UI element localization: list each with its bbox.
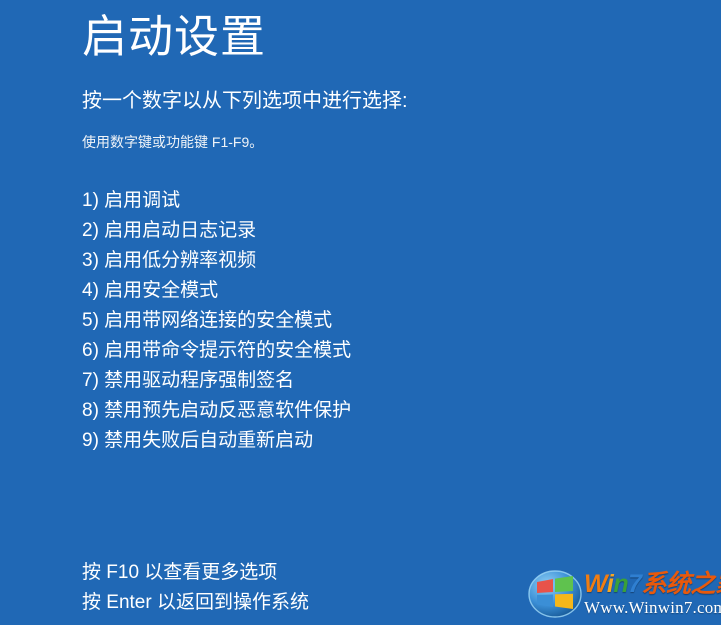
watermark-text: Win7系统之家 Www.Winwin7.com <box>584 571 721 618</box>
footer-hints: 按 F10 以查看更多选项 按 Enter 以返回到操作系统 <box>82 558 309 618</box>
site-watermark: Win7系统之家 Www.Winwin7.com <box>528 566 721 622</box>
instruction-subtitle: 按一个数字以从下列选项中进行选择: <box>82 88 408 114</box>
footer-return-os[interactable]: 按 Enter 以返回到操作系统 <box>82 588 309 618</box>
footer-more-options[interactable]: 按 F10 以查看更多选项 <box>82 558 309 588</box>
option-item-7[interactable]: 7) 禁用驱动程序强制签名 <box>82 366 351 396</box>
brand-chinese: 系统之家 <box>642 570 721 598</box>
windows-orb-icon <box>528 570 582 618</box>
option-item-6[interactable]: 6) 启用带命令提示符的安全模式 <box>82 336 351 366</box>
brand-digit-7: 7 <box>628 570 641 598</box>
brand-letter-w: W <box>584 570 607 598</box>
option-item-8[interactable]: 8) 禁用预先启动反恶意软件保护 <box>82 396 351 426</box>
option-item-5[interactable]: 5) 启用带网络连接的安全模式 <box>82 306 351 336</box>
watermark-url: Www.Winwin7.com <box>584 598 721 618</box>
option-item-4[interactable]: 4) 启用安全模式 <box>82 276 351 306</box>
option-item-2[interactable]: 2) 启用启动日志记录 <box>82 216 351 246</box>
startup-settings-screen: 启动设置 按一个数字以从下列选项中进行选择: 使用数字键或功能键 F1-F9。 … <box>0 0 721 625</box>
page-title: 启动设置 <box>82 11 266 63</box>
option-item-1[interactable]: 1) 启用调试 <box>82 186 351 216</box>
option-item-9[interactable]: 9) 禁用失败后自动重新启动 <box>82 426 351 456</box>
watermark-brand: Win7系统之家 <box>584 571 721 598</box>
boot-options-list: 1) 启用调试 2) 启用启动日志记录 3) 启用低分辨率视频 4) 启用安全模… <box>82 186 351 456</box>
option-item-3[interactable]: 3) 启用低分辨率视频 <box>82 246 351 276</box>
brand-letter-n: n <box>613 570 628 598</box>
function-key-hint: 使用数字键或功能键 F1-F9。 <box>82 133 263 151</box>
